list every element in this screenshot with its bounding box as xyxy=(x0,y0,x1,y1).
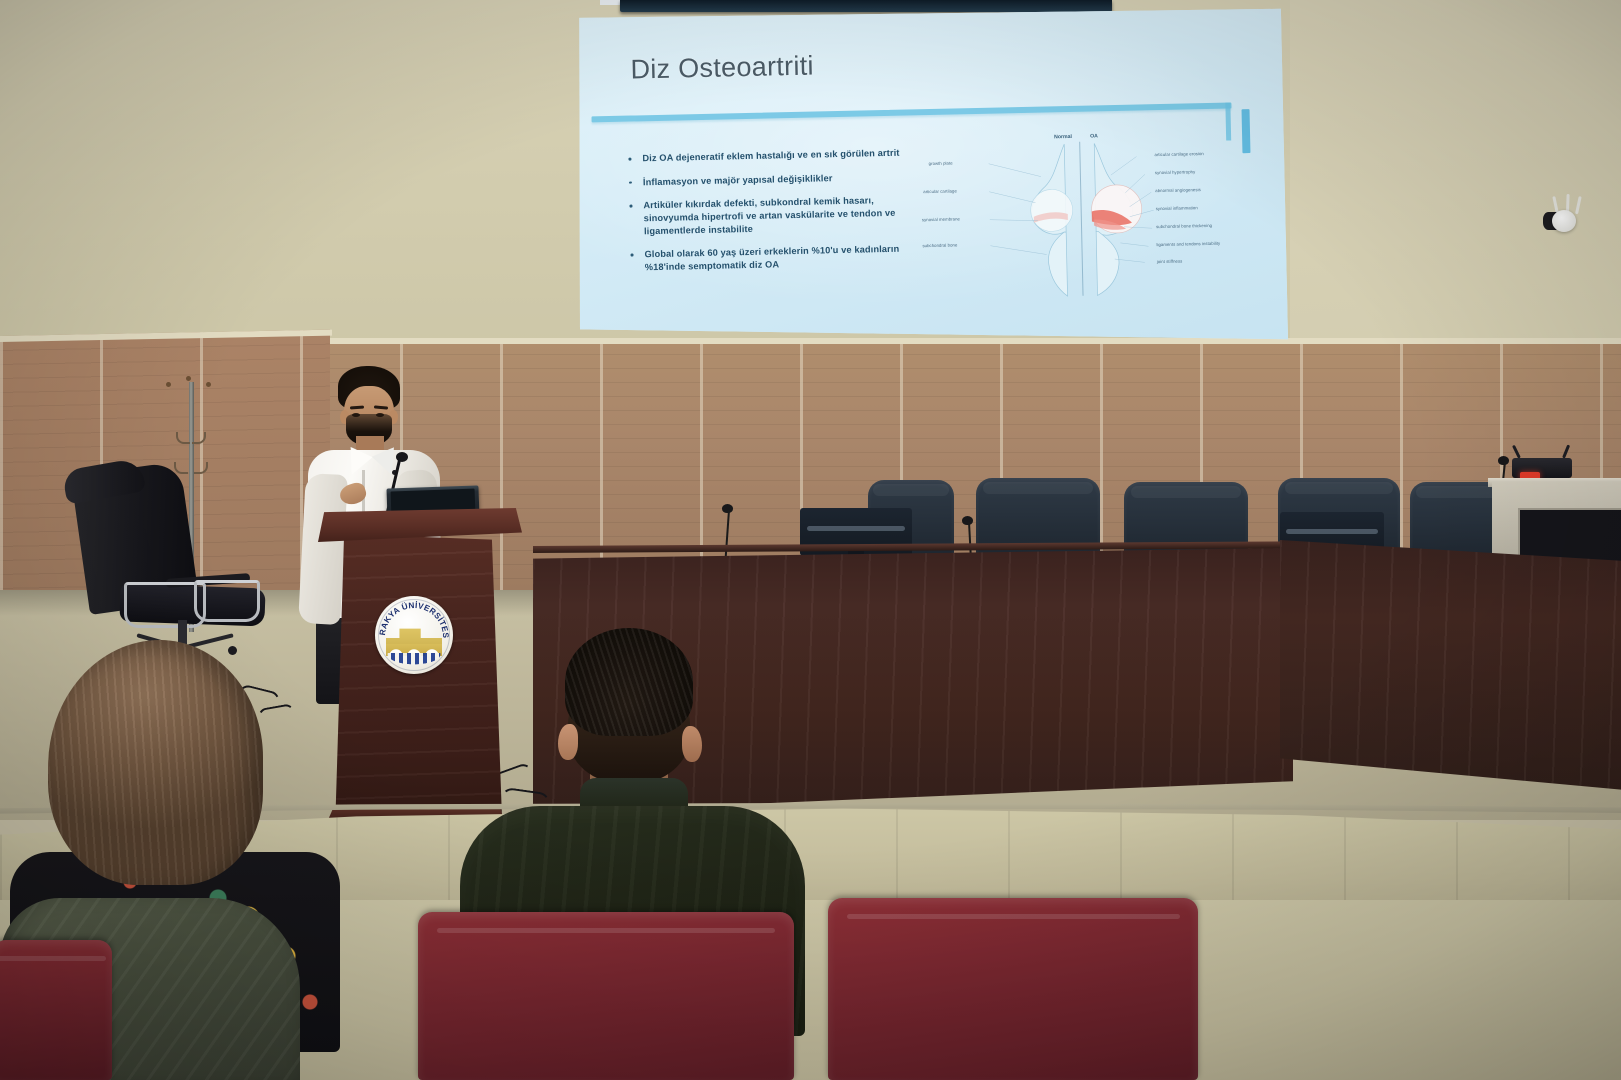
audience-hair xyxy=(565,628,693,736)
hook-icon xyxy=(166,382,171,387)
auditorium-seat[interactable] xyxy=(828,898,1198,1080)
auditorium-seat[interactable] xyxy=(418,912,794,1080)
diagram-label-synovial-hypertrophy: synovial hypertrophy xyxy=(1155,169,1196,175)
slide-title: Diz Osteoartriti xyxy=(630,51,814,86)
list-item: İnflamasyon ve majör yapısal değişiklikl… xyxy=(625,170,910,189)
upper-wall-right-section xyxy=(1290,0,1621,360)
projection-screen: Diz Osteoartriti Diz OA dejeneratif ekle… xyxy=(575,6,1288,356)
audience-ear xyxy=(682,726,702,762)
diagram-label-joint-stiffness: joint stiffness xyxy=(1157,259,1183,265)
wood-grain-texture xyxy=(1280,540,1621,800)
diagram-label-cartilage-erosion: articular cartilage erosion xyxy=(1154,151,1203,157)
hook-icon xyxy=(176,432,190,444)
diagram-label-subchondral-bone: subchondral bone xyxy=(922,242,957,248)
audience-hair xyxy=(48,640,263,885)
list-item: Artiküler kıkırdak defekti, subkondral k… xyxy=(625,194,911,238)
microphone-stem xyxy=(724,510,730,562)
diagram-label-growth-plate: growth plate xyxy=(929,161,953,167)
hook-icon xyxy=(206,382,211,387)
tile-top-trim xyxy=(330,338,1621,344)
diagram-label-synovial-inflammation: synovial inflammation xyxy=(1156,205,1198,211)
knee-joint-diagram: Normal OA xyxy=(914,124,1248,301)
hook-icon xyxy=(186,376,191,381)
wifi-access-point-icon xyxy=(1552,210,1576,232)
office-chair xyxy=(62,468,277,668)
podium-lectern-top xyxy=(318,508,522,542)
auditorium-seat[interactable] xyxy=(0,940,112,1080)
list-item: Diz OA dejeneratif eklem hastalığı ve en… xyxy=(624,146,909,165)
chair-armrest xyxy=(194,580,260,622)
panel-table-right-segment xyxy=(1280,540,1621,800)
auditorium-photo: Diz Osteoartriti Diz OA dejeneratif ekle… xyxy=(0,0,1621,1080)
screen-mount-bar xyxy=(620,0,1112,12)
diagram-label-articular-cartilage: articular cartilage xyxy=(923,188,957,194)
list-item: Global olarak 60 yaş üzeri erkeklerin %1… xyxy=(626,243,911,275)
diagram-label-abnormal-angiogenesis: abnormal angiogenesis xyxy=(1155,187,1201,193)
slide-bullet-list: Diz OA dejeneratif eklem hastalığı ve en… xyxy=(624,146,912,285)
audience-ear xyxy=(558,724,578,760)
diagram-label-synovial-membrane: synovial membrane xyxy=(922,216,960,222)
slide-content: Diz Osteoartriti Diz OA dejeneratif ekle… xyxy=(571,0,1291,364)
slide-accent-bar xyxy=(592,102,1232,122)
